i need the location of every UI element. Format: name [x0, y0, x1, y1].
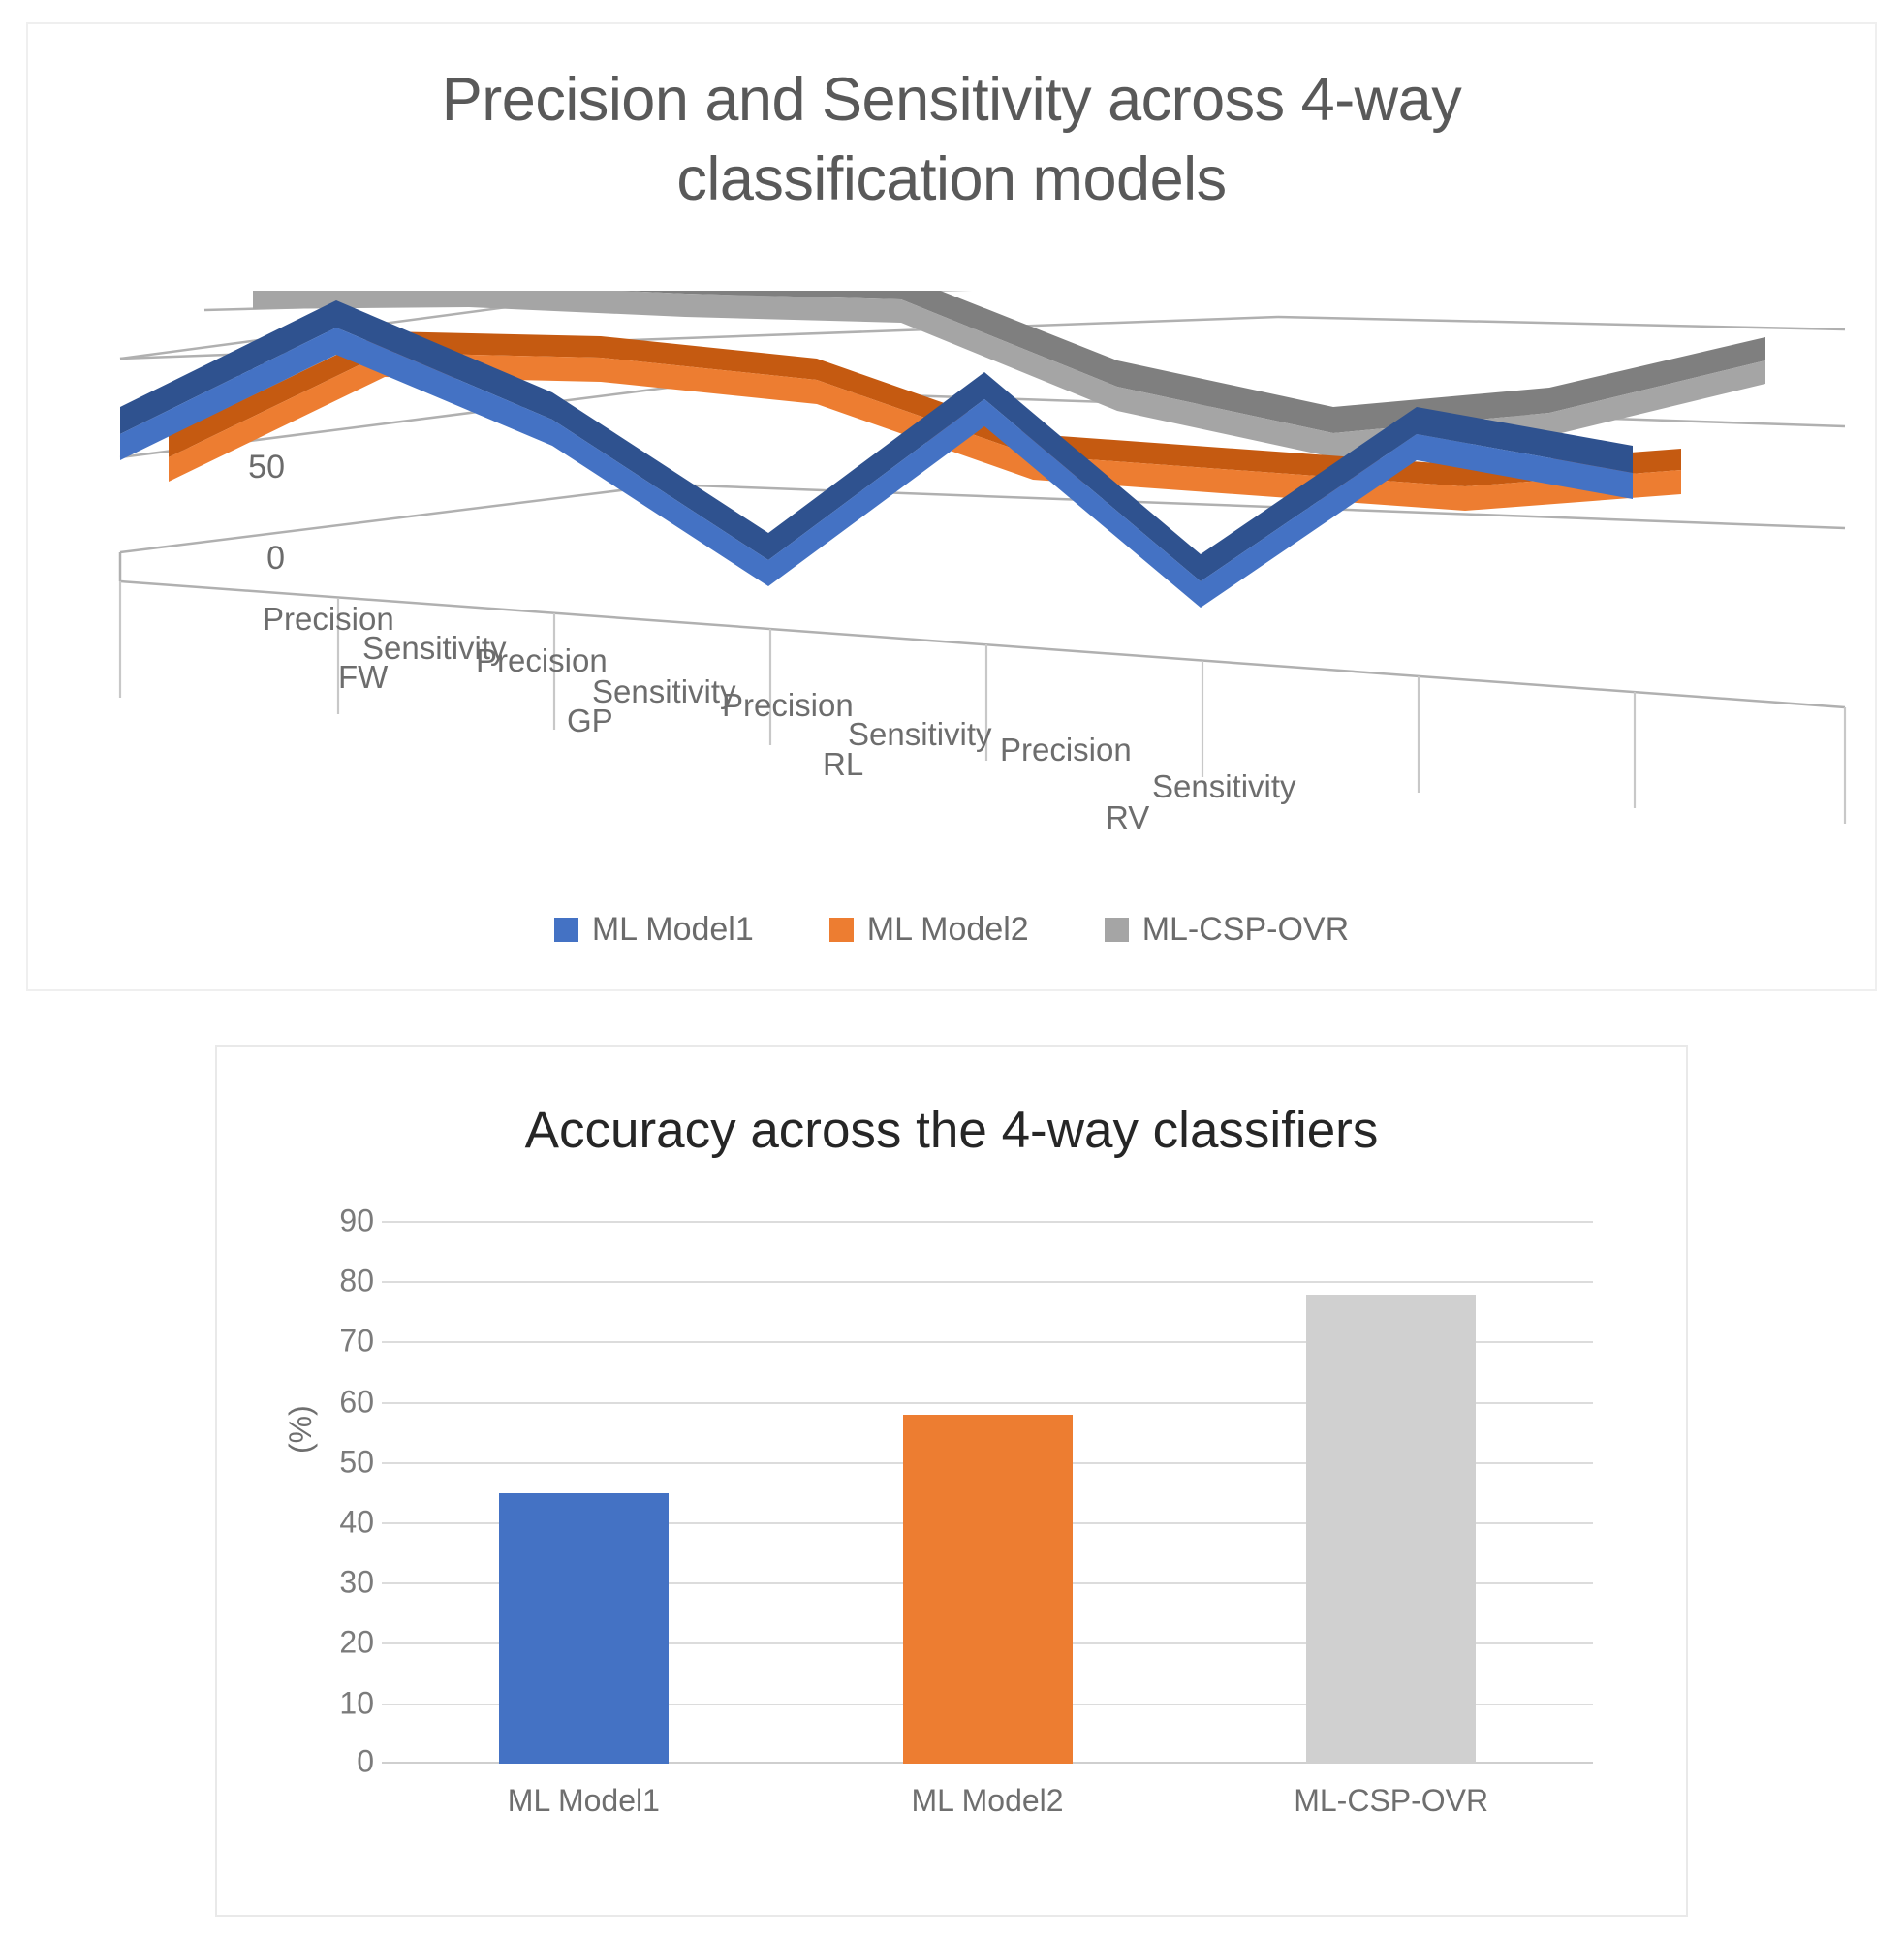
bar-ml-model1[interactable]: [499, 1493, 669, 1764]
top-xlabel-rl-sensitivity: Sensitivity: [848, 716, 992, 753]
bar-cell-ml-model1: [382, 1221, 786, 1764]
top-group-label-fw: FW: [338, 659, 388, 696]
bottom-chart-y-axis-label: (%): [283, 1405, 319, 1454]
precision-sensitivity-chart-panel: Precision and Sensitivity across 4-way c…: [26, 22, 1877, 991]
legend-item-ml-csp-ovr[interactable]: ML-CSP-OVR: [1105, 911, 1349, 949]
top-xlabel-rl-precision: Precision: [722, 687, 854, 724]
accuracy-chart-panel: Accuracy across the 4-way classifiers (%…: [215, 1045, 1688, 1917]
bottom-chart-title: Accuracy across the 4-way classifiers: [217, 1101, 1686, 1160]
bottom-ytick-0: 0: [357, 1744, 374, 1780]
bottom-ytick-80: 80: [339, 1264, 374, 1299]
legend-label-ml-csp-ovr: ML-CSP-OVR: [1142, 911, 1349, 949]
legend-label-ml-model2: ML Model2: [867, 911, 1029, 949]
top-xlabel-gp-precision: Precision: [476, 642, 608, 679]
bottom-ytick-70: 70: [339, 1324, 374, 1360]
legend-swatch-icon-ml-model1: [554, 918, 578, 942]
bar-ml-csp-ovr[interactable]: [1306, 1295, 1476, 1764]
legend-item-ml-model2[interactable]: ML Model2: [829, 911, 1029, 949]
top-xlabel-rv-precision: Precision: [1000, 732, 1132, 768]
figure-canvas: Precision and Sensitivity across 4-way c…: [0, 0, 1904, 1939]
bottom-ytick-50: 50: [339, 1445, 374, 1481]
top-chart-title-line2: classification models: [28, 141, 1875, 220]
bottom-ytick-10: 10: [339, 1686, 374, 1722]
top-xlabel-rv-sensitivity: Sensitivity: [1152, 768, 1296, 805]
bar-cell-ml-csp-ovr: [1189, 1221, 1593, 1764]
category-label-ml-model1: ML Model1: [382, 1783, 786, 1819]
legend-swatch-icon-ml-model2: [829, 918, 854, 942]
bottom-chart-plot-area: 90 80 70 60 50 40 30 20 10 0: [382, 1221, 1593, 1764]
bar-ml-model2[interactable]: [903, 1415, 1073, 1764]
top-chart-legend: ML Model1 ML Model2 ML-CSP-OVR: [28, 911, 1875, 949]
legend-label-ml-model1: ML Model1: [592, 911, 754, 949]
category-label-ml-model2: ML Model2: [786, 1783, 1190, 1819]
bottom-ytick-60: 60: [339, 1385, 374, 1421]
legend-swatch-icon-ml-csp-ovr: [1105, 918, 1129, 942]
top-chart-title: Precision and Sensitivity across 4-way c…: [28, 61, 1875, 220]
bottom-ytick-90: 90: [339, 1204, 374, 1239]
top-group-label-rl: RL: [823, 746, 863, 783]
top-group-label-rv: RV: [1106, 799, 1149, 836]
bottom-ytick-20: 20: [339, 1625, 374, 1661]
bottom-chart-category-labels: ML Model1 ML Model2 ML-CSP-OVR: [382, 1783, 1593, 1819]
bar-cell-ml-model2: [786, 1221, 1190, 1764]
top-chart-title-line1: Precision and Sensitivity across 4-way: [28, 61, 1875, 141]
category-label-ml-csp-ovr: ML-CSP-OVR: [1189, 1783, 1593, 1819]
legend-item-ml-model1[interactable]: ML Model1: [554, 911, 754, 949]
bottom-ytick-40: 40: [339, 1505, 374, 1541]
bottom-ytick-30: 30: [339, 1565, 374, 1601]
bar-group: [382, 1221, 1593, 1764]
top-xlabel-gp-sensitivity: Sensitivity: [592, 673, 736, 710]
series-ribbon-ml-model1: [120, 300, 1633, 608]
top-group-label-gp: GP: [567, 703, 613, 739]
